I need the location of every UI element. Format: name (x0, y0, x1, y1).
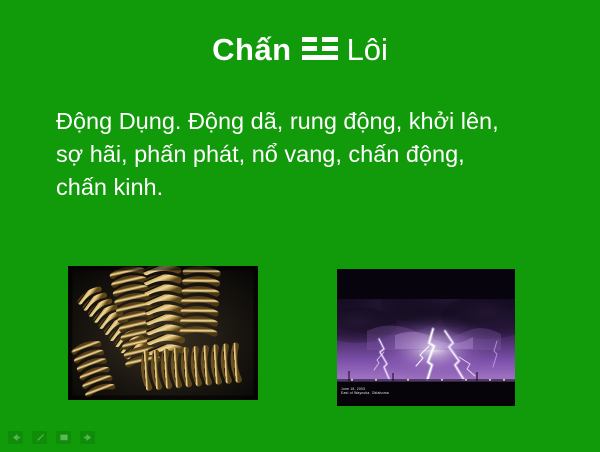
title-sub-text: Lôi (347, 32, 388, 67)
left-arrow-icon (11, 433, 21, 442)
pen-icon (35, 433, 45, 443)
lightning-storm-graphic (337, 269, 515, 406)
coil-springs-photo (68, 266, 258, 400)
right-arrow-icon (83, 433, 93, 442)
trigram-line-top (302, 37, 338, 42)
body-line: Động Dụng. Động dã, rung động, khởi lên, (56, 105, 576, 138)
previous-slide-button[interactable] (8, 431, 23, 444)
trigram-line-bottom (302, 55, 338, 60)
menu-button[interactable] (56, 431, 71, 444)
coil-springs-graphic (68, 266, 258, 400)
lightning-storm-photo: June 18, 2003East of Waynoka, Oklahoma (337, 269, 515, 406)
body-line: sợ hãi, phấn phát, nổ vang, chấn động, (56, 138, 576, 171)
trigram-segment (302, 55, 338, 60)
pen-button[interactable] (32, 431, 47, 444)
trigram-segment (322, 46, 337, 51)
trigram-zhen-thunder-icon (302, 37, 338, 60)
photo-caption: June 18, 2003East of Waynoka, Oklahoma (341, 387, 389, 396)
title-main-text: Chấn (212, 32, 292, 67)
trigram-segment (302, 37, 317, 42)
trigram-line-middle (302, 46, 338, 51)
slide-title: Chấn Lôi (0, 34, 600, 65)
next-slide-button[interactable] (80, 431, 95, 444)
slideshow-control-bar[interactable] (8, 431, 95, 444)
trigram-segment (322, 37, 337, 42)
trigram-segment (302, 46, 317, 51)
presentation-slide: Chấn Lôi Động Dụng. Động dã, rung động, … (0, 0, 600, 452)
body-line: chấn kinh. (56, 171, 576, 204)
slide-body-text: Động Dụng. Động dã, rung động, khởi lên,… (56, 105, 576, 204)
menu-square-icon (59, 433, 69, 442)
